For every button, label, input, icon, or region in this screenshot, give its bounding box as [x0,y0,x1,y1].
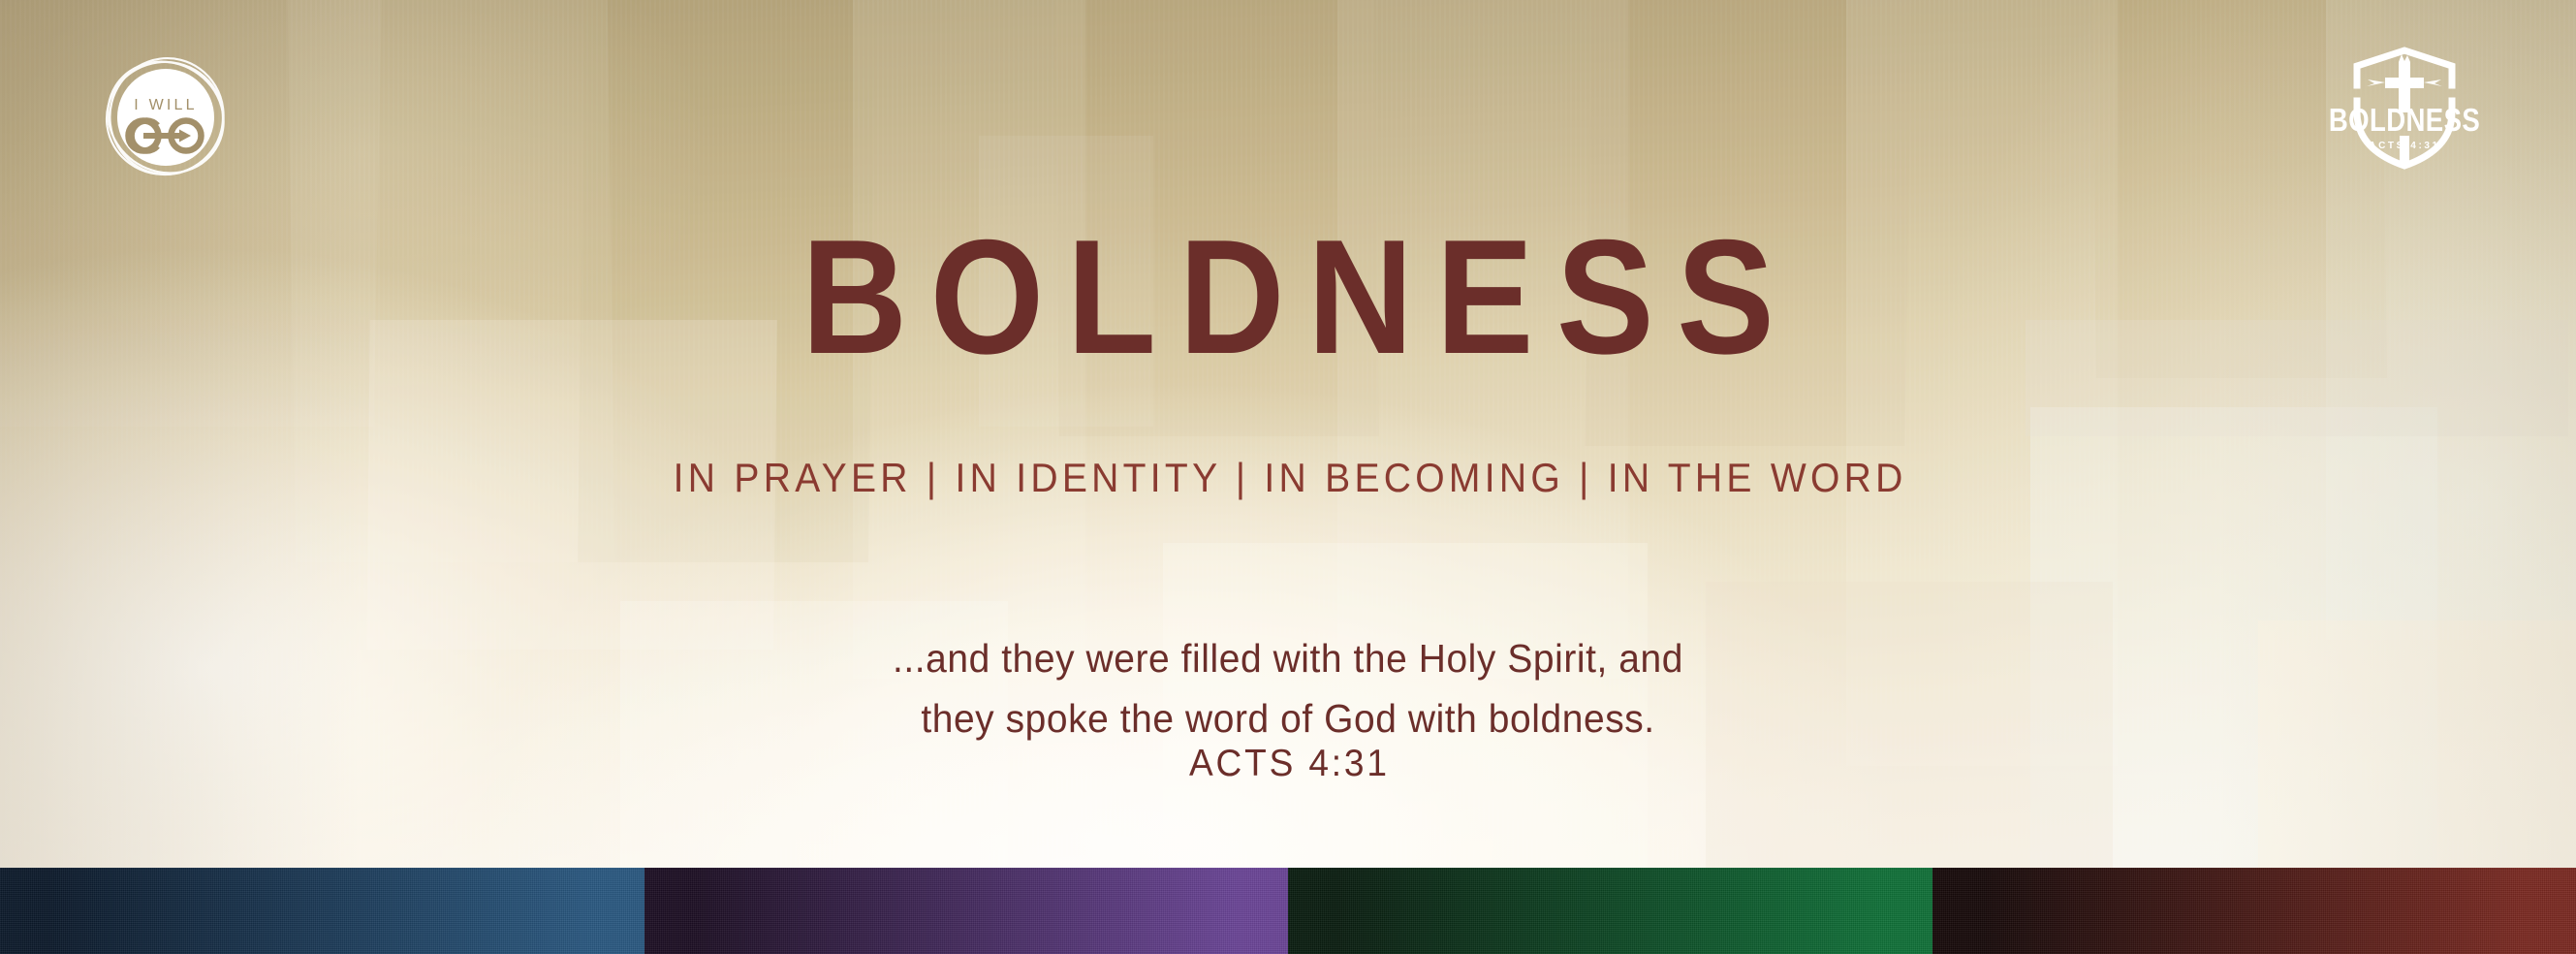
page-title: BOLDNESS [129,215,2447,378]
scripture-verse: ...and they were filled with the Holy Sp… [64,628,2511,748]
color-swatch-red [1932,868,2576,954]
swatch-grain [644,868,1289,954]
swatch-grain [1288,868,1932,954]
color-swatch-purple [644,868,1289,954]
color-swatch-blue [0,868,644,954]
color-swatch-bar [0,868,2576,954]
swatch-grain [1932,868,2576,954]
scripture-reference: ACTS 4:31 [64,745,2511,782]
banner-content: BOLDNESS IN PRAYER | IN IDENTITY | IN BE… [0,0,2576,868]
swatch-grain [0,868,644,954]
boldness-banner: I WILL [0,0,2576,954]
color-swatch-green [1288,868,1932,954]
verse-line-1: ...and they were filled with the Holy Sp… [64,628,2511,688]
verse-line-2: they spoke the word of God with boldness… [64,688,2511,748]
banner-subtitle: IN PRAYER | IN IDENTITY | IN BECOMING | … [90,458,2486,498]
